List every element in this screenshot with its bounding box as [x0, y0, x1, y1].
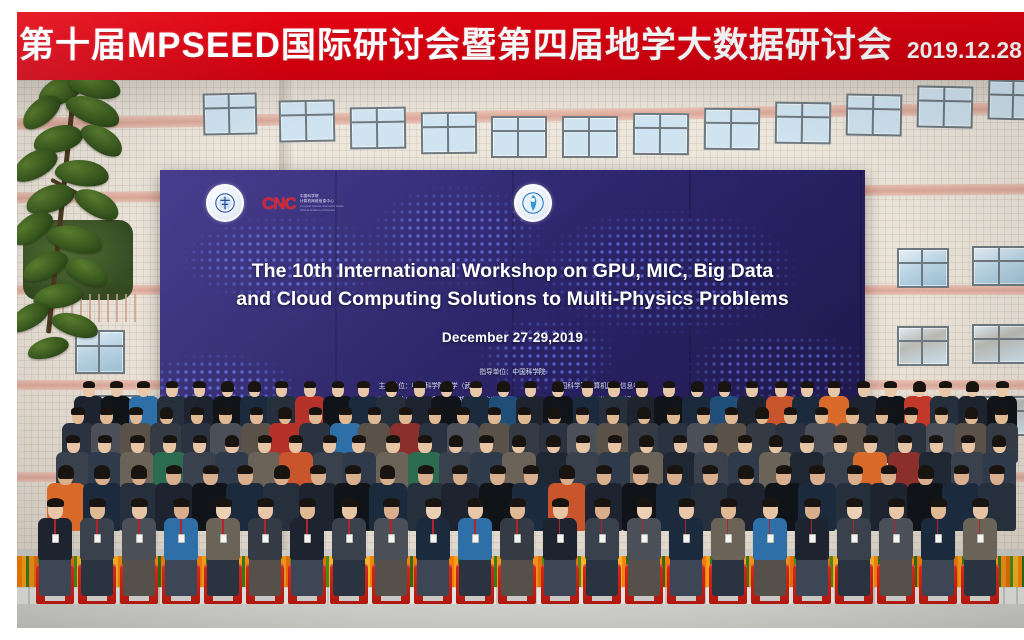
attendee-legs: [586, 554, 618, 596]
banner-text-row: 第十届MPSEED国际研讨会暨第四届地学大数据研讨会 2019.12.28: [17, 12, 1024, 80]
attendee-hair: [989, 465, 1005, 474]
building-window: [972, 324, 1024, 364]
name-badge: [599, 534, 606, 543]
attendee-hair: [193, 381, 206, 388]
attendee-hair: [289, 435, 303, 443]
attendee-hair: [594, 498, 611, 507]
attendee-hair: [784, 407, 797, 415]
attendee-hair: [357, 381, 370, 388]
building-window: [491, 116, 547, 158]
building-window: [203, 92, 258, 135]
attendee-hair: [166, 465, 182, 474]
lanyard: [306, 519, 308, 535]
attendee-hair: [857, 381, 870, 388]
attendee-hair: [552, 498, 569, 507]
attendee-hair: [368, 407, 381, 415]
attendee-hair: [323, 435, 337, 443]
attendee-hair: [94, 465, 110, 479]
attendee-hair: [399, 407, 412, 415]
attendee-legs: [207, 554, 239, 596]
conference-title-chinese: 第十届MPSEED国际研讨会暨第四届地学大数据研讨会: [19, 28, 893, 63]
attendee-hair: [608, 381, 621, 388]
attendee-hair: [552, 381, 565, 392]
name-badge: [641, 534, 648, 543]
building-window: [350, 107, 407, 150]
attendee-hair: [718, 381, 731, 392]
attendee-hair: [996, 381, 1009, 388]
attendee-legs: [838, 554, 870, 596]
attendee-hair: [173, 498, 190, 507]
attendee-hair: [332, 381, 345, 388]
attendee-hair: [490, 465, 506, 474]
attendee-hair: [83, 381, 96, 388]
attendee-seated: [287, 498, 327, 598]
attendee-hair: [691, 381, 704, 392]
attendee-seated: [371, 498, 411, 598]
attendee-hair: [972, 498, 989, 507]
attendee-hair: [804, 498, 821, 507]
building-window: [704, 108, 760, 151]
attendee-hair: [992, 435, 1006, 447]
attendee-hair: [225, 435, 239, 447]
cnc-logo-sub: Computer Network Information Center: [300, 205, 344, 208]
lanyard: [180, 519, 182, 535]
attendee-hair: [278, 407, 291, 419]
building-window: [562, 116, 618, 158]
attendee-legs: [501, 554, 533, 596]
cnc-mark-text: CNC: [262, 195, 296, 212]
attendee-seated: [918, 498, 958, 598]
attendee-seated: [497, 498, 537, 598]
attendee-hair: [939, 381, 952, 388]
attendee-hair: [440, 381, 453, 392]
lanyard: [559, 519, 561, 535]
attendee-hair: [71, 407, 84, 415]
attendee-hair: [703, 435, 717, 443]
attendee-crowd: [17, 390, 1024, 628]
attendee-hair: [190, 407, 203, 415]
attendee-hair: [935, 407, 948, 415]
attendee-legs: [291, 554, 323, 596]
attendee-hair: [129, 407, 142, 415]
screenshot-root: 第十届MPSEED国际研讨会暨第四届地学大数据研讨会 2019.12.28: [0, 0, 1024, 640]
name-badge: [767, 534, 774, 543]
backdrop-date: December 27-29,2019: [160, 330, 865, 345]
name-badge: [557, 534, 564, 543]
attendee-legs: [880, 554, 912, 596]
building-window: [279, 100, 336, 143]
name-badge: [430, 534, 437, 543]
lanyard: [516, 519, 518, 535]
attendee-hair: [637, 407, 650, 419]
attendee-legs: [712, 554, 744, 596]
attendee-hair: [512, 435, 526, 447]
name-badge: [94, 534, 101, 543]
attendee-seated: [329, 498, 369, 598]
attendee-seated: [750, 498, 790, 598]
attendee-hair: [720, 498, 737, 507]
attendee-hair: [606, 407, 619, 415]
attendee-legs: [459, 554, 491, 596]
name-badge: [472, 534, 479, 543]
sponsor-logos: CNC 中国科学院 计算机网络信息中心 Computer Network Inf…: [206, 184, 552, 222]
building-window: [421, 112, 477, 154]
attendee-hair: [518, 407, 531, 415]
attendee-hair: [274, 465, 290, 479]
attendee-hair: [801, 381, 814, 388]
attendee-hair: [452, 465, 468, 474]
attendee-legs: [670, 554, 702, 596]
attendee-hair: [815, 407, 828, 415]
attendee-seated: [624, 498, 664, 598]
attendee-hair: [898, 435, 912, 443]
lanyard: [895, 519, 897, 535]
lanyard: [643, 519, 645, 535]
attendee-hair: [131, 498, 148, 507]
attendee-hair: [352, 435, 366, 443]
lanyard: [474, 519, 476, 535]
attendee-seated: [455, 498, 495, 598]
attendee-hair: [776, 465, 792, 474]
organizer-row: 指导单位：中国科学院: [480, 368, 546, 378]
attendee-hair: [89, 498, 106, 507]
attendee-hair: [341, 498, 358, 507]
attendee-hair: [678, 498, 695, 507]
attendee-legs: [922, 554, 954, 596]
building-window: [972, 246, 1024, 286]
attendee-hair: [725, 407, 738, 415]
lanyard: [348, 519, 350, 535]
attendee-hair: [385, 381, 398, 392]
attendee-hair: [667, 407, 680, 415]
attendee-hair: [160, 407, 173, 419]
name-badge: [809, 534, 816, 543]
attendee-hair: [888, 498, 905, 507]
backdrop-title-line-2: and Cloud Computing Solutions to Multi-P…: [182, 286, 843, 314]
name-badge: [346, 534, 353, 543]
attendee-hair: [345, 465, 361, 474]
attendee-hair: [386, 435, 400, 443]
attendee-legs: [375, 554, 407, 596]
attendee-hair: [738, 465, 754, 479]
attendee-hair: [738, 435, 752, 443]
lanyard: [727, 519, 729, 535]
attendee-seated: [834, 498, 874, 598]
attendee-hair: [523, 465, 539, 474]
attendee-hair: [418, 465, 434, 474]
attendee-hair: [383, 498, 400, 507]
attendee-hair: [904, 407, 917, 415]
attendee-hair: [524, 381, 537, 388]
lanyard: [432, 519, 434, 535]
institute-emblem-right-icon: [514, 184, 552, 222]
attendee-hair: [137, 381, 150, 388]
attendee-hair: [299, 498, 316, 507]
name-badge: [893, 534, 900, 543]
attendee-hair: [237, 465, 253, 474]
backdrop-title-line-1: The 10th International Workshop on GPU, …: [182, 258, 843, 286]
attendee-hair: [275, 381, 288, 388]
attendee-hair: [596, 465, 612, 474]
attendee-seated: [666, 498, 706, 598]
building-window: [897, 326, 949, 366]
attendee-seated: [876, 498, 916, 598]
attendee-hair: [221, 381, 234, 392]
attendee-hair: [635, 381, 648, 388]
name-badge: [178, 534, 185, 543]
attendee-hair: [636, 498, 653, 507]
attendee-hair: [546, 435, 560, 447]
name-badge: [304, 534, 311, 543]
attendee-hair: [110, 381, 123, 388]
group-photo: CNC 中国科学院 计算机网络信息中心 Computer Network Inf…: [17, 80, 1024, 628]
lanyard: [685, 519, 687, 535]
lanyard: [138, 519, 140, 535]
attendee-hair: [913, 381, 926, 392]
attendee-hair: [966, 381, 979, 392]
building-window: [775, 102, 832, 145]
cnc-logo-sub2: Chinese Academy of Sciences: [300, 209, 344, 212]
name-badge: [683, 534, 690, 543]
attendee-hair: [639, 435, 653, 447]
attendee-hair: [250, 407, 263, 415]
attendee-hair: [509, 498, 526, 507]
attendee-legs: [417, 554, 449, 596]
attendee-hair: [954, 465, 970, 474]
name-badge: [220, 534, 227, 543]
lanyard: [601, 519, 603, 535]
attendee-hair: [47, 498, 64, 507]
cnc-logo: CNC 中国科学院 计算机网络信息中心 Computer Network Inf…: [262, 194, 344, 212]
attendee-legs: [754, 554, 786, 596]
attendee-hair: [833, 435, 847, 443]
attendee-hair: [310, 465, 326, 474]
building-window: [988, 80, 1024, 121]
attendee-seated: [203, 498, 243, 598]
attendee-hair: [309, 407, 322, 415]
attendee-hair: [769, 435, 783, 447]
attendee-hair: [847, 465, 863, 474]
attendee-hair: [548, 407, 561, 419]
attendee-hair: [130, 435, 144, 443]
attendee-hair: [809, 465, 825, 474]
attendee-seated: [161, 498, 201, 598]
lanyard: [937, 519, 939, 535]
attendee-hair: [163, 435, 177, 443]
lanyard: [769, 519, 771, 535]
lanyard: [96, 519, 98, 535]
attendee-hair: [846, 498, 863, 507]
attendee-hair: [863, 435, 877, 443]
attendee-hair: [918, 465, 934, 479]
attendee-hair: [428, 407, 441, 415]
attendee-hair: [66, 435, 80, 443]
attendee-seated: [582, 498, 622, 598]
name-badge: [977, 534, 984, 543]
attendee-hair: [100, 407, 113, 415]
organizer-left: 指导单位：中国科学院: [480, 368, 546, 378]
name-badge: [725, 534, 732, 543]
attendee-hair: [497, 381, 510, 392]
attendee-hair: [166, 381, 179, 388]
attendee-hair: [667, 465, 683, 474]
attendee-legs: [165, 554, 197, 596]
attendee-hair: [702, 465, 718, 474]
attendee-hair: [219, 407, 232, 415]
attendee-hair: [248, 381, 261, 392]
attendee-hair: [380, 465, 396, 479]
attendee-hair: [961, 435, 975, 443]
lanyard: [222, 519, 224, 535]
attendee-hair: [58, 465, 74, 479]
attendee-hair: [608, 435, 622, 443]
attendee-hair: [576, 407, 589, 415]
attendee-hair: [257, 498, 274, 507]
attendee-seated: [35, 498, 75, 598]
attendee-legs: [628, 554, 660, 596]
name-badge: [935, 534, 942, 543]
attendee-seated: [77, 498, 117, 598]
attendee-hair: [559, 465, 575, 479]
attendee-legs: [81, 554, 113, 596]
attendee-hair: [456, 407, 469, 415]
banner-date: 2019.12.28: [907, 39, 1022, 62]
attendee-hair: [581, 381, 594, 388]
attendee-hair: [881, 465, 897, 474]
attendee-hair: [467, 498, 484, 507]
name-badge: [388, 534, 395, 543]
attendee-hair: [673, 435, 687, 443]
attendee-hair: [746, 381, 759, 388]
attendee-hair: [131, 465, 147, 479]
attendee-legs: [39, 554, 71, 596]
attendee-hair: [875, 407, 888, 415]
attendee-legs: [796, 554, 828, 596]
attendee-hair: [470, 381, 483, 388]
name-badge: [851, 534, 858, 543]
attendee-hair: [884, 381, 897, 388]
attendee-seated: [792, 498, 832, 598]
attendee-hair: [449, 435, 463, 447]
attendee-hair: [488, 407, 501, 415]
name-badge: [52, 534, 59, 543]
attendee-hair: [258, 435, 272, 443]
lanyard: [811, 519, 813, 535]
red-title-banner: 第十届MPSEED国际研讨会暨第四届地学大数据研讨会 2019.12.28: [17, 12, 1024, 80]
attendee-hair: [215, 498, 232, 507]
attendee-hair: [775, 381, 788, 388]
cnc-logo-line2: 计算机网络信息中心: [300, 199, 344, 203]
attendee-hair: [930, 498, 947, 507]
lanyard: [390, 519, 392, 535]
lanyard: [264, 519, 266, 535]
attendee-hair: [98, 435, 112, 443]
attendee-hair: [929, 435, 943, 443]
attendee-hair: [479, 435, 493, 443]
attendee-hair: [418, 435, 432, 443]
backdrop-title: The 10th International Workshop on GPU, …: [160, 258, 865, 313]
attendee-legs: [544, 554, 576, 596]
building-window: [897, 248, 949, 288]
institute-emblem-left-icon: [206, 184, 244, 222]
building-window: [917, 85, 974, 128]
attendee-hair: [203, 465, 219, 474]
attendee-hair: [965, 407, 978, 419]
building-window: [633, 113, 689, 155]
attendee-seated: [413, 498, 453, 598]
lanyard: [54, 519, 56, 535]
attendee-hair: [663, 381, 676, 388]
attendee-hair: [995, 407, 1008, 415]
attendee-seated: [540, 498, 580, 598]
attendee-hair: [339, 407, 352, 415]
attendee-seated: [708, 498, 748, 598]
attendee-seated: [245, 498, 285, 598]
building-window: [846, 94, 903, 137]
lanyard: [853, 519, 855, 535]
attendee-hair: [304, 381, 317, 388]
name-badge: [262, 534, 269, 543]
attendee-seated: [960, 498, 1000, 598]
attendee-hair: [828, 381, 841, 388]
attendee-hair: [846, 407, 859, 415]
attendee-hair: [697, 407, 710, 415]
attendee-hair: [413, 381, 426, 388]
attendee-hair: [762, 498, 779, 507]
attendee-hair: [425, 498, 442, 507]
name-badge: [136, 534, 143, 543]
attendee-hair: [576, 435, 590, 443]
attendee-hair: [193, 435, 207, 443]
attendee-hair: [633, 465, 649, 474]
attendee-legs: [249, 554, 281, 596]
attendee-legs: [964, 554, 996, 596]
attendee-hair: [800, 435, 814, 443]
attendee-legs: [123, 554, 155, 596]
attendee-seated: [119, 498, 159, 598]
lanyard: [979, 519, 981, 535]
cnc-logo-line1: 中国科学院: [300, 194, 344, 198]
attendee-hair: [755, 407, 768, 419]
attendee-legs: [333, 554, 365, 596]
name-badge: [514, 534, 521, 543]
